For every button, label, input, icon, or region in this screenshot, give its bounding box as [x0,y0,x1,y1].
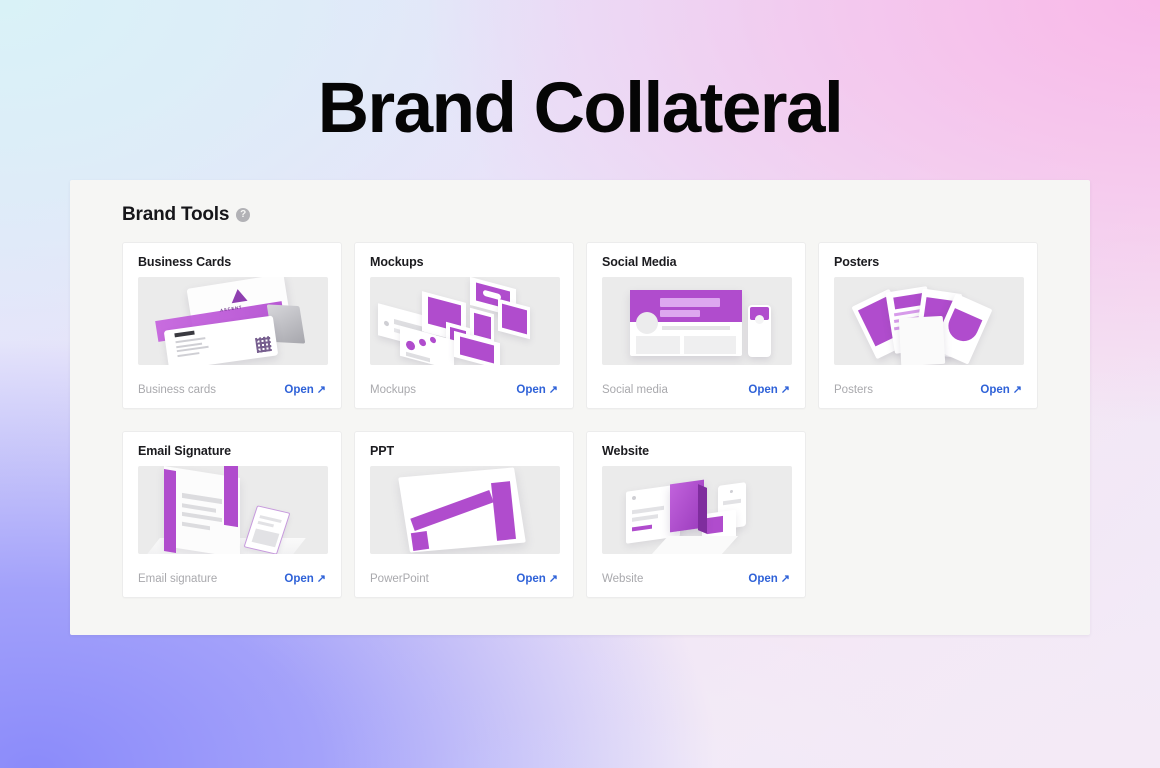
card-caption: Social media [602,384,668,396]
card-footer: PowerPoint Open ↗ [370,561,558,597]
external-link-arrow-icon: ↗ [317,574,326,585]
card-footer: Mockups Open ↗ [370,372,558,408]
card-caption: Mockups [370,384,416,396]
card-title: Mockups [370,255,558,269]
social-media-thumbnail [602,277,792,365]
card-title: Website [602,444,790,458]
open-link-label: Open [748,384,777,396]
external-link-arrow-icon: ↗ [549,574,558,585]
card-title: Social Media [602,255,790,269]
open-link-label: Open [516,384,545,396]
card-title: Posters [834,255,1022,269]
card-email-signature[interactable]: Email Signature [122,431,342,598]
card-footer: Posters Open ↗ [834,372,1022,408]
card-caption: Email signature [138,573,217,585]
card-posters[interactable]: Posters Posters [818,242,1038,409]
card-footer: Social media Open ↗ [602,372,790,408]
open-link-mockups[interactable]: Open ↗ [516,384,558,396]
brand-tools-grid: Business Cards ASCENT Business cards [122,242,1066,598]
help-circle-icon[interactable]: ? [236,208,250,222]
open-link-label: Open [980,384,1009,396]
website-thumbnail [602,466,792,554]
card-caption: Posters [834,384,873,396]
open-link-label: Open [516,573,545,585]
card-footer: Website Open ↗ [602,561,790,597]
card-mockups[interactable]: Mockups [354,242,574,409]
open-link-website[interactable]: Open ↗ [748,573,790,585]
open-link-label: Open [284,384,313,396]
open-link-business-cards[interactable]: Open ↗ [284,384,326,396]
open-link-label: Open [748,573,777,585]
brand-tools-panel: Brand Tools ? Business Cards ASCENT [70,180,1090,635]
mockups-thumbnail [370,277,560,365]
open-link-social-media[interactable]: Open ↗ [748,384,790,396]
card-caption: Website [602,573,643,585]
open-link-posters[interactable]: Open ↗ [980,384,1022,396]
card-title: PPT [370,444,558,458]
card-title: Email Signature [138,444,326,458]
external-link-arrow-icon: ↗ [317,385,326,396]
qr-code-icon [255,336,272,353]
card-title: Business Cards [138,255,326,269]
card-caption: PowerPoint [370,573,429,585]
card-ppt[interactable]: PPT PowerPoint Open ↗ [354,431,574,598]
card-business-cards[interactable]: Business Cards ASCENT Business cards [122,242,342,409]
card-social-media[interactable]: Social Media [586,242,806,409]
panel-title: Brand Tools [122,204,229,226]
external-link-arrow-icon: ↗ [549,385,558,396]
open-link-ppt[interactable]: Open ↗ [516,573,558,585]
business-cards-thumbnail: ASCENT [138,277,328,365]
external-link-arrow-icon: ↗ [781,385,790,396]
card-footer: Email signature Open ↗ [138,561,326,597]
card-footer: Business cards Open ↗ [138,372,326,408]
posters-thumbnail [834,277,1024,365]
ppt-thumbnail [370,466,560,554]
external-link-arrow-icon: ↗ [1013,385,1022,396]
panel-header: Brand Tools ? [122,204,1066,226]
page-title: Brand Collateral [0,72,1160,147]
open-link-email-signature[interactable]: Open ↗ [284,573,326,585]
card-website[interactable]: Website [586,431,806,598]
card-caption: Business cards [138,384,216,396]
email-signature-thumbnail [138,466,328,554]
open-link-label: Open [284,573,313,585]
external-link-arrow-icon: ↗ [781,574,790,585]
